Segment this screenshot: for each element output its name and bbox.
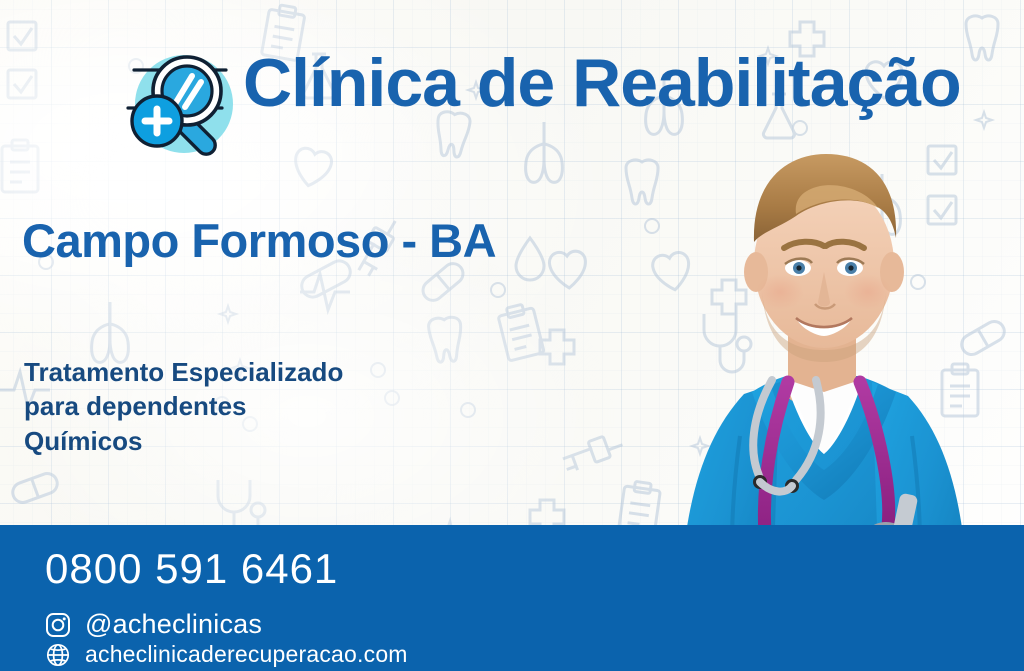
website-url: acheclinicaderecuperacao.com (85, 641, 408, 668)
globe-icon (45, 642, 71, 668)
instagram-row[interactable]: @acheclinicas (45, 609, 262, 640)
tagline-line-2: para dependentes (24, 389, 343, 423)
tagline-line-1: Tratamento Especializado (24, 355, 343, 389)
instagram-handle: @acheclinicas (85, 609, 262, 640)
promo-banner: Clínica de Reabilitação Campo Formoso - … (0, 0, 1024, 671)
contact-bar: 0800 591 6461 @acheclinicas (0, 525, 1024, 671)
magnifier-plus-icon (122, 46, 240, 164)
website-row[interactable]: acheclinicaderecuperacao.com (45, 641, 408, 668)
tagline-block: Tratamento Especializado para dependente… (24, 355, 343, 458)
phone-number[interactable]: 0800 591 6461 (45, 545, 338, 593)
location-heading: Campo Formoso - BA (22, 213, 496, 268)
tagline-line-3: Químicos (24, 424, 343, 458)
instagram-icon (45, 612, 71, 638)
